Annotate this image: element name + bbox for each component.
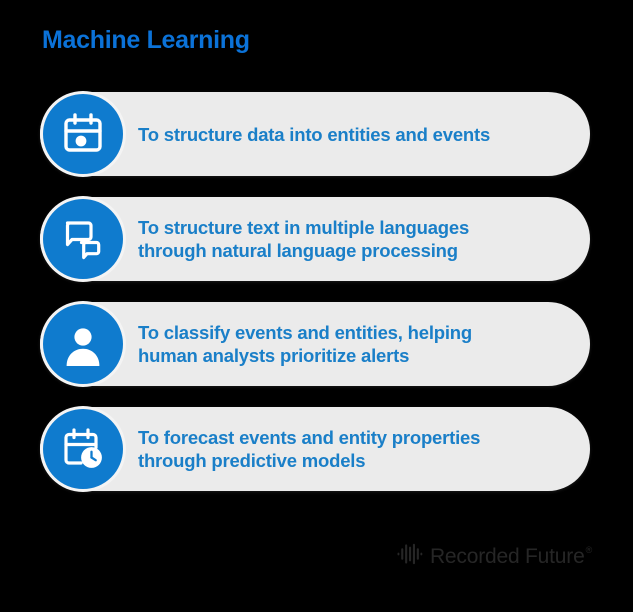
chat-bubbles-icon — [43, 199, 123, 279]
infographic-canvas: Machine Learning To structure data into … — [0, 0, 633, 612]
list-item: To structure text in multiple languages … — [0, 197, 633, 281]
list-item: To structure data into entities and even… — [0, 92, 633, 176]
row-text: To structure data into entities and even… — [138, 92, 568, 176]
feature-list: To structure data into entities and even… — [0, 92, 633, 512]
calendar-event-icon — [43, 94, 123, 174]
page-title: Machine Learning — [42, 26, 250, 55]
row-line: through predictive models — [138, 449, 568, 472]
logo-wordmark: Recorded Future® — [430, 546, 591, 567]
recorded-future-logo: Recorded Future® — [397, 543, 591, 570]
calendar-clock-icon — [43, 409, 123, 489]
row-line: through natural language processing — [138, 239, 568, 262]
row-line: To forecast events and entity properties — [138, 426, 568, 449]
logo-text: Recorded Future — [430, 545, 585, 568]
waveform-bars-icon — [397, 543, 423, 570]
row-text: To structure text in multiple languages … — [138, 197, 568, 281]
row-text: To classify events and entities, helping… — [138, 302, 568, 386]
list-item: To classify events and entities, helping… — [0, 302, 633, 386]
row-line: To classify events and entities, helping — [138, 321, 568, 344]
row-line: To structure text in multiple languages — [138, 216, 568, 239]
registered-trademark-symbol: ® — [586, 545, 592, 555]
row-line: To structure data into entities and even… — [138, 123, 568, 146]
row-text: To forecast events and entity properties… — [138, 407, 568, 491]
list-item: To forecast events and entity properties… — [0, 407, 633, 491]
row-line: human analysts prioritize alerts — [138, 344, 568, 367]
person-icon — [43, 304, 123, 384]
